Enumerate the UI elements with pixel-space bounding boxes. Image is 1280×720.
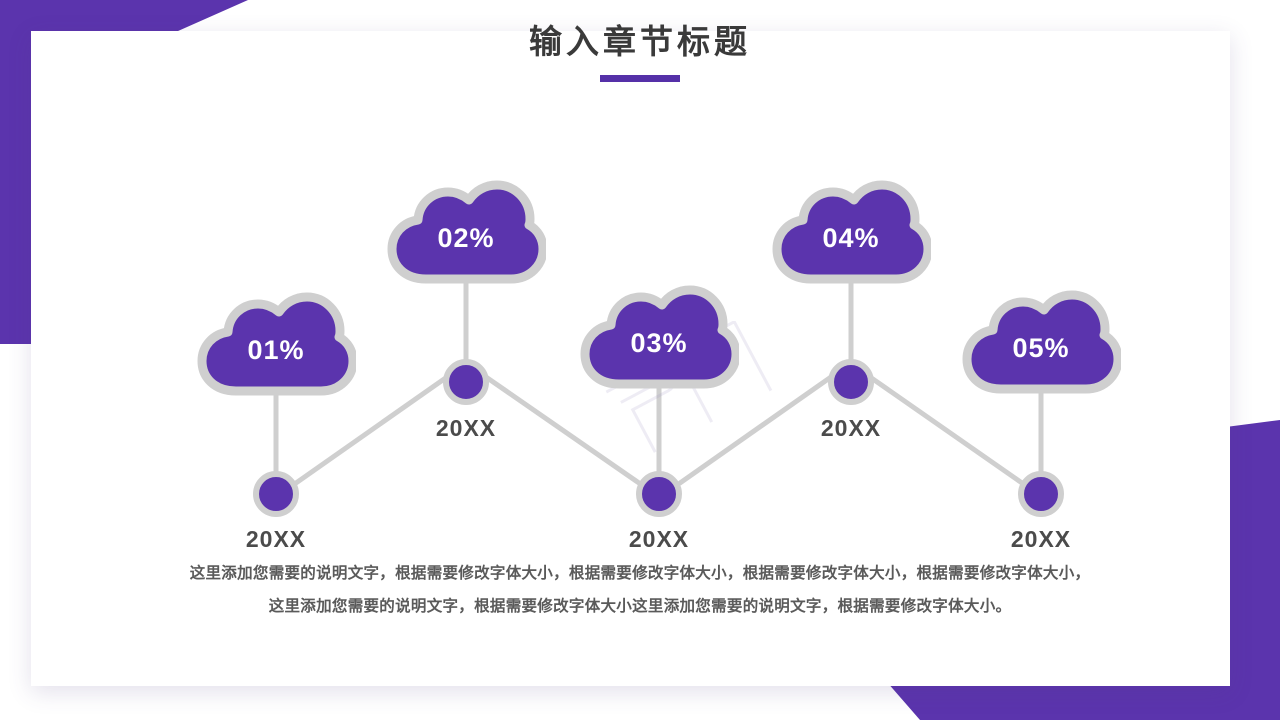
description-line-1: 这里添加您需要的说明文字，根据需要修改字体大小，根据需要修改字体大小，根据需要修… [110, 558, 1170, 591]
timeline-node-caption-2: 20XX [386, 415, 546, 442]
cloud-label-05: 05% [961, 281, 1121, 401]
cloud-callout-02[interactable]: 02% [386, 171, 546, 291]
timeline-node-3[interactable] [636, 471, 682, 517]
cloud-callout-04[interactable]: 04% [771, 171, 931, 291]
timeline-node-caption-5: 20XX [961, 526, 1121, 553]
description-line-2: 这里添加您需要的说明文字，根据需要修改字体大小这里添加您需要的说明文字，根据需要… [110, 591, 1170, 624]
timeline-node-1[interactable] [253, 471, 299, 517]
timeline-node-4[interactable] [828, 359, 874, 405]
cloud-label-03: 03% [579, 276, 739, 396]
cloud-label-04: 04% [771, 171, 931, 291]
cloud-label-01: 01% [196, 283, 356, 403]
timeline-node-caption-4: 20XX [771, 415, 931, 442]
slide-canvas: 输入章节标题 [0, 0, 1280, 720]
timeline-node-5[interactable] [1018, 471, 1064, 517]
cloud-callout-03[interactable]: 03% [579, 276, 739, 396]
timeline-node-2[interactable] [443, 359, 489, 405]
cloud-callout-01[interactable]: 01% [196, 283, 356, 403]
description-paragraph: 这里添加您需要的说明文字，根据需要修改字体大小，根据需要修改字体大小，根据需要修… [110, 558, 1170, 623]
timeline-node-caption-1: 20XX [196, 526, 356, 553]
timeline-node-caption-3: 20XX [579, 526, 739, 553]
cloud-label-02: 02% [386, 171, 546, 291]
cloud-callout-05[interactable]: 05% [961, 281, 1121, 401]
